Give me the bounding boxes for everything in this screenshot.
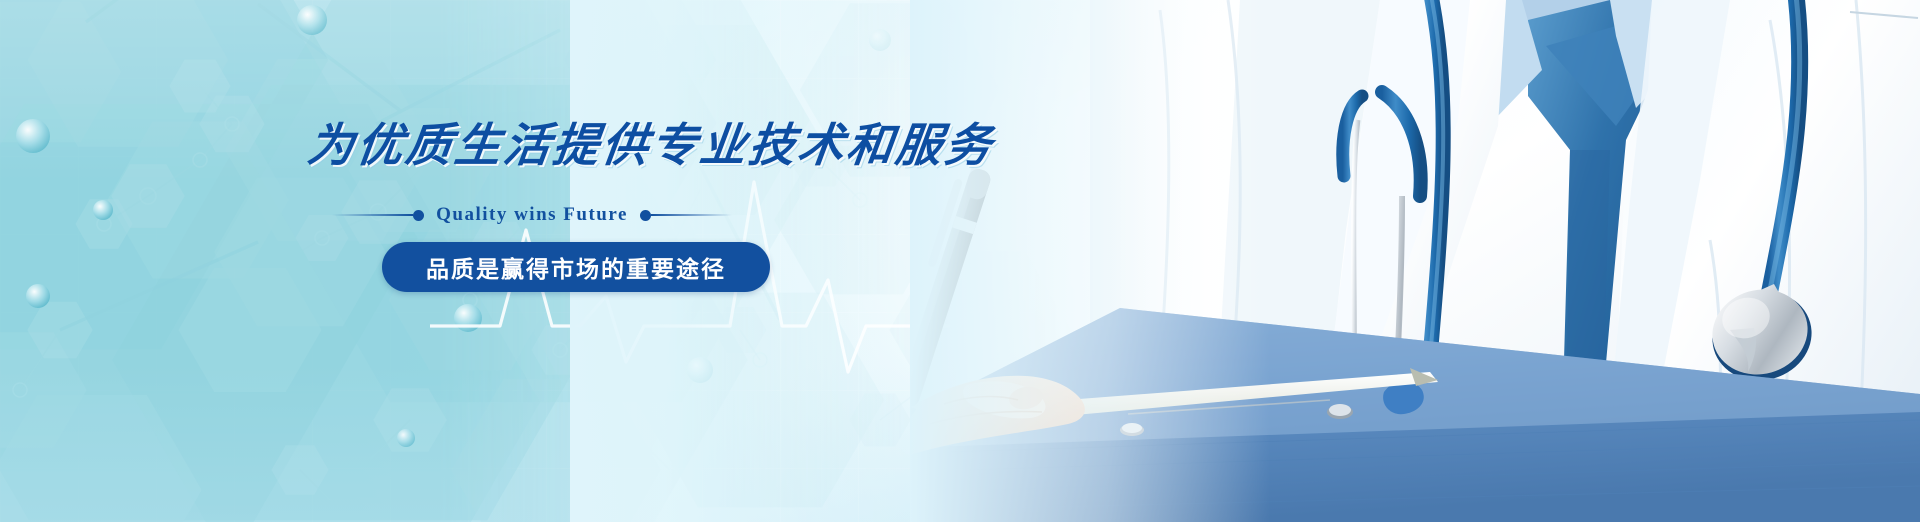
eyebrow-rule-right — [651, 214, 732, 216]
eyebrow-dot-left — [413, 210, 424, 221]
hero-banner: 为优质生活提供专业技术和服务 Quality wins Future 品质是赢得… — [0, 0, 1920, 522]
eyebrow-dot-right — [640, 210, 651, 221]
eyebrow-tagline: Quality wins Future — [332, 204, 732, 226]
slogan-pill-button[interactable]: 品质是赢得市场的重要途径 — [382, 242, 770, 292]
page-title: 为优质生活提供专业技术和服务 — [305, 122, 1023, 168]
doctor-photo — [910, 0, 1920, 522]
eyebrow-rule-left — [332, 214, 413, 216]
eyebrow-label: Quality wins Future — [424, 204, 640, 226]
banner-copy: 为优质生活提供专业技术和服务 Quality wins Future 品质是赢得… — [300, 122, 1020, 292]
